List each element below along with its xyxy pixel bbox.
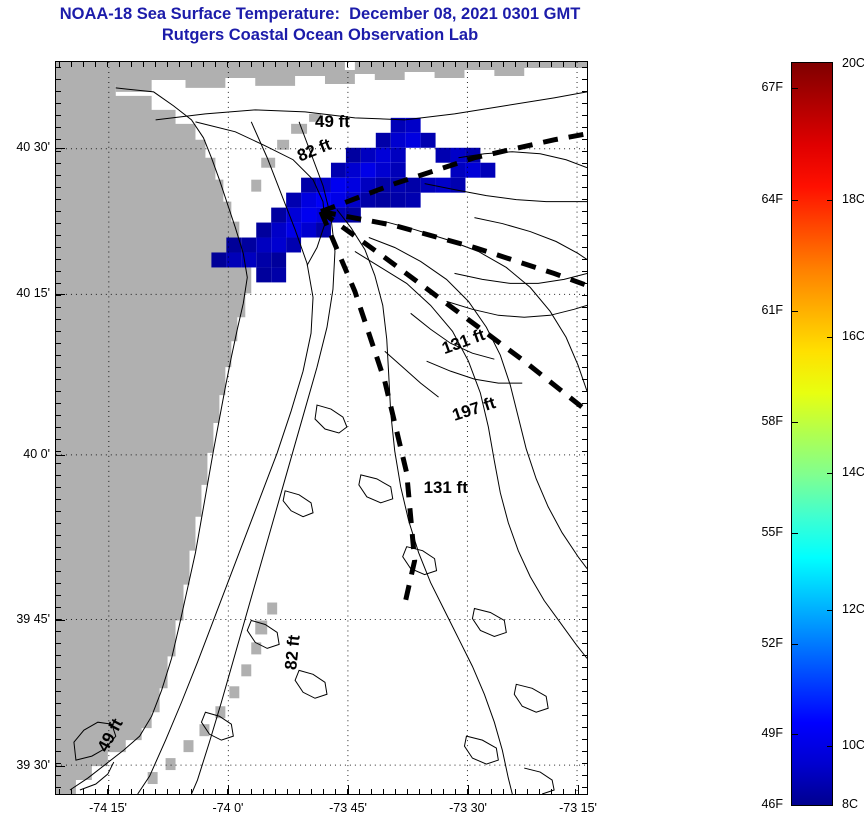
- axis-tick-minor: [55, 679, 61, 680]
- axis-tick-minor: [299, 61, 300, 67]
- axis-tick-minor: [55, 283, 61, 284]
- axis-tick-minor: [582, 559, 588, 560]
- axis-tick-minor: [119, 789, 120, 795]
- axis-tick-minor: [55, 763, 61, 764]
- axis-tick-minor: [582, 451, 588, 452]
- colorbar-label-celsius: 20C: [842, 56, 864, 70]
- axis-tick-minor: [55, 535, 61, 536]
- colorbar-label-celsius: 8C: [842, 797, 858, 811]
- axis-tick-minor: [275, 61, 276, 67]
- axis-tick-minor: [55, 79, 61, 80]
- axis-tick-minor: [582, 739, 588, 740]
- axis-tick-minor: [582, 247, 588, 248]
- axis-tick-minor: [515, 61, 516, 67]
- axis-tick-minor: [55, 547, 61, 548]
- title-line-1: NOAA-18 Sea Surface Temperature: Decembe…: [0, 4, 640, 25]
- axis-tick-minor: [582, 271, 588, 272]
- axis-tick-minor: [55, 235, 61, 236]
- axis-tick-minor: [55, 367, 61, 368]
- sst-map-plot[interactable]: 49 ft 82 ft 131 ft 197 ft 131 ft 82 ft 4…: [55, 61, 588, 795]
- axis-tick-minor: [563, 61, 564, 67]
- axis-tick-minor: [239, 789, 240, 795]
- axis-tick-minor: [419, 789, 420, 795]
- axis-tick-minor: [443, 61, 444, 67]
- axis-tick-minor: [55, 295, 61, 296]
- axis-tick-minor: [55, 259, 61, 260]
- axis-tick-major-x: [578, 785, 579, 795]
- axis-tick-minor: [582, 259, 588, 260]
- axis-tick-minor: [179, 789, 180, 795]
- axis-tick-minor: [582, 391, 588, 392]
- axis-tick-minor: [263, 789, 264, 795]
- axis-tick-minor: [55, 739, 61, 740]
- colorbar-tick-right: [827, 746, 833, 747]
- axis-tick-minor: [55, 751, 61, 752]
- axis-tick-minor: [55, 175, 61, 176]
- axis-tick-minor: [582, 355, 588, 356]
- axis-tick-minor: [455, 61, 456, 67]
- axis-tick-minor: [83, 61, 84, 67]
- axis-tick-minor: [575, 61, 576, 67]
- colorbar-label-fahrenheit: 64F: [735, 192, 783, 206]
- axis-tick-minor: [179, 61, 180, 67]
- axis-tick-minor: [582, 463, 588, 464]
- axis-tick-minor: [167, 61, 168, 67]
- axis-tick-minor: [55, 127, 61, 128]
- axis-tick-minor: [582, 67, 588, 68]
- y-axis-label: 40 30': [0, 140, 50, 154]
- axis-tick-minor: [95, 789, 96, 795]
- colorbar-tick-left: [791, 533, 798, 534]
- axis-tick-major-x: [228, 785, 229, 795]
- colorbar-tick-right: [827, 200, 833, 201]
- axis-tick-minor: [55, 499, 61, 500]
- x-axis-label: -74 0': [196, 801, 260, 815]
- axis-tick-minor: [55, 607, 61, 608]
- axis-tick-minor: [311, 61, 312, 67]
- map-canvas: 49 ft 82 ft 131 ft 197 ft 131 ft 82 ft 4…: [56, 62, 587, 794]
- axis-tick-minor: [239, 61, 240, 67]
- axis-tick-minor: [55, 463, 61, 464]
- axis-tick-minor: [582, 367, 588, 368]
- axis-tick-minor: [287, 61, 288, 67]
- axis-tick-minor: [582, 427, 588, 428]
- x-axis-label: -73 30': [436, 801, 500, 815]
- axis-tick-minor: [582, 139, 588, 140]
- axis-tick-minor: [479, 789, 480, 795]
- colorbar-tick-left: [791, 200, 798, 201]
- axis-tick-minor: [582, 595, 588, 596]
- axis-tick-minor: [582, 727, 588, 728]
- axis-tick-minor: [55, 163, 61, 164]
- axis-tick-minor: [582, 583, 588, 584]
- axis-tick-minor: [55, 715, 61, 716]
- axis-tick-minor: [582, 307, 588, 308]
- axis-tick-minor: [407, 61, 408, 67]
- axis-tick-minor: [491, 789, 492, 795]
- colorbar-label-celsius: 10C: [842, 738, 864, 752]
- axis-tick-minor: [455, 789, 456, 795]
- axis-tick-minor: [582, 667, 588, 668]
- colorbar-tick-left: [791, 422, 798, 423]
- axis-tick-minor: [203, 61, 204, 67]
- axis-tick-minor: [431, 61, 432, 67]
- axis-tick-minor: [71, 61, 72, 67]
- axis-tick-minor: [55, 115, 61, 116]
- axis-tick-minor: [539, 61, 540, 67]
- axis-tick-minor: [203, 789, 204, 795]
- axis-tick-minor: [582, 319, 588, 320]
- axis-tick-minor: [287, 789, 288, 795]
- axis-tick-minor: [55, 559, 61, 560]
- axis-tick-minor: [582, 151, 588, 152]
- axis-tick-minor: [55, 199, 61, 200]
- axis-tick-minor: [55, 511, 61, 512]
- axis-tick-minor: [55, 643, 61, 644]
- axis-tick-minor: [55, 271, 61, 272]
- axis-tick-minor: [582, 487, 588, 488]
- axis-tick-minor: [582, 787, 588, 788]
- axis-tick-minor: [131, 789, 132, 795]
- axis-tick-minor: [479, 61, 480, 67]
- axis-tick-minor: [395, 61, 396, 67]
- axis-tick-major-y: [55, 294, 65, 295]
- colorbar-label-celsius: 12C: [842, 602, 864, 616]
- axis-tick-minor: [167, 789, 168, 795]
- axis-tick-minor: [191, 789, 192, 795]
- axis-tick-minor: [55, 415, 61, 416]
- axis-tick-minor: [582, 415, 588, 416]
- axis-tick-minor: [582, 511, 588, 512]
- axis-tick-minor: [359, 61, 360, 67]
- axis-tick-minor: [191, 61, 192, 67]
- axis-tick-minor: [371, 61, 372, 67]
- axis-tick-minor: [55, 583, 61, 584]
- axis-tick-minor: [582, 535, 588, 536]
- x-axis-label: -73 15': [546, 801, 610, 815]
- axis-tick-minor: [251, 61, 252, 67]
- x-axis-label: -74 15': [76, 801, 140, 815]
- axis-tick-minor: [359, 789, 360, 795]
- axis-tick-minor: [582, 379, 588, 380]
- axis-tick-minor: [419, 61, 420, 67]
- axis-tick-minor: [395, 789, 396, 795]
- axis-tick-minor: [55, 571, 61, 572]
- axis-tick-minor: [582, 691, 588, 692]
- axis-tick-minor: [443, 789, 444, 795]
- axis-tick-minor: [59, 789, 60, 795]
- axis-tick-minor: [582, 547, 588, 548]
- colorbar-label-fahrenheit: 46F: [735, 797, 783, 811]
- axis-tick-minor: [55, 595, 61, 596]
- axis-tick-minor: [55, 775, 61, 776]
- depth-label-131ft-lower: 131 ft: [424, 478, 469, 497]
- axis-tick-minor: [55, 427, 61, 428]
- axis-tick-minor: [582, 715, 588, 716]
- axis-tick-minor: [55, 439, 61, 440]
- axis-tick-minor: [55, 667, 61, 668]
- axis-tick-minor: [55, 187, 61, 188]
- axis-tick-minor: [575, 789, 576, 795]
- axis-tick-minor: [83, 789, 84, 795]
- axis-tick-minor: [55, 787, 61, 788]
- colorbar-tick-right: [827, 610, 833, 611]
- axis-tick-minor: [582, 475, 588, 476]
- axis-tick-minor: [55, 391, 61, 392]
- axis-tick-minor: [263, 61, 264, 67]
- axis-tick-minor: [119, 61, 120, 67]
- axis-tick-minor: [155, 789, 156, 795]
- axis-tick-minor: [55, 727, 61, 728]
- axis-tick-minor: [335, 789, 336, 795]
- axis-tick-minor: [55, 487, 61, 488]
- axis-tick-minor: [582, 331, 588, 332]
- axis-tick-minor: [582, 403, 588, 404]
- colorbar-tick-left: [791, 311, 798, 312]
- colorbar-label-fahrenheit: 61F: [735, 303, 783, 317]
- title-line-2: Rutgers Coastal Ocean Observation Lab: [0, 25, 640, 46]
- axis-tick-minor: [55, 319, 61, 320]
- chart-title: NOAA-18 Sea Surface Temperature: Decembe…: [0, 4, 640, 46]
- colorbar-label-fahrenheit: 67F: [735, 80, 783, 94]
- axis-tick-minor: [582, 439, 588, 440]
- axis-tick-minor: [215, 789, 216, 795]
- axis-tick-minor: [383, 61, 384, 67]
- colorbar-tick-left: [791, 644, 798, 645]
- axis-tick-minor: [311, 789, 312, 795]
- axis-tick-minor: [582, 103, 588, 104]
- axis-tick-minor: [582, 655, 588, 656]
- axis-tick-minor: [55, 475, 61, 476]
- axis-tick-minor: [55, 343, 61, 344]
- axis-tick-minor: [503, 789, 504, 795]
- axis-tick-minor: [143, 789, 144, 795]
- axis-tick-minor: [582, 187, 588, 188]
- axis-tick-minor: [563, 789, 564, 795]
- axis-tick-minor: [582, 631, 588, 632]
- axis-tick-minor: [491, 61, 492, 67]
- axis-tick-minor: [582, 295, 588, 296]
- axis-tick-minor: [582, 127, 588, 128]
- axis-tick-minor: [55, 655, 61, 656]
- axis-tick-minor: [71, 789, 72, 795]
- axis-tick-minor: [55, 691, 61, 692]
- axis-tick-minor: [251, 789, 252, 795]
- axis-tick-minor: [551, 789, 552, 795]
- colorbar-label-celsius: 18C: [842, 192, 864, 206]
- axis-tick-minor: [107, 61, 108, 67]
- axis-tick-minor: [587, 789, 588, 795]
- y-axis-label: 40 15': [0, 286, 50, 300]
- colorbar-label-fahrenheit: 52F: [735, 636, 783, 650]
- colorbar-tick-right: [827, 337, 833, 338]
- colorbar-label-fahrenheit: 49F: [735, 726, 783, 740]
- axis-tick-major-y: [55, 148, 65, 149]
- axis-tick-major-y: [55, 620, 65, 621]
- axis-tick-minor: [55, 211, 61, 212]
- axis-tick-minor: [155, 61, 156, 67]
- axis-tick-minor: [143, 61, 144, 67]
- axis-tick-minor: [515, 789, 516, 795]
- axis-tick-minor: [55, 307, 61, 308]
- axis-tick-minor: [582, 79, 588, 80]
- axis-tick-minor: [527, 61, 528, 67]
- axis-tick-minor: [582, 619, 588, 620]
- axis-tick-minor: [582, 235, 588, 236]
- axis-tick-minor: [55, 139, 61, 140]
- colorbar[interactable]: [791, 62, 833, 806]
- axis-tick-minor: [55, 103, 61, 104]
- axis-tick-minor: [371, 789, 372, 795]
- axis-tick-minor: [582, 163, 588, 164]
- axis-tick-minor: [55, 151, 61, 152]
- axis-tick-minor: [582, 523, 588, 524]
- axis-tick-minor: [55, 223, 61, 224]
- axis-tick-minor: [55, 379, 61, 380]
- axis-tick-minor: [467, 61, 468, 67]
- axis-tick-minor: [347, 61, 348, 67]
- axis-tick-minor: [323, 61, 324, 67]
- axis-tick-minor: [55, 523, 61, 524]
- axis-tick-minor: [55, 247, 61, 248]
- depth-label-82ft-lower: 82 ft: [281, 634, 304, 671]
- axis-tick-minor: [582, 199, 588, 200]
- axis-tick-major-y: [55, 766, 65, 767]
- axis-tick-minor: [582, 283, 588, 284]
- y-axis-label: 39 30': [0, 758, 50, 772]
- axis-tick-minor: [299, 789, 300, 795]
- axis-tick-minor: [55, 703, 61, 704]
- colorbar-label-fahrenheit: 55F: [735, 525, 783, 539]
- axis-tick-minor: [55, 67, 61, 68]
- colorbar-label-fahrenheit: 58F: [735, 414, 783, 428]
- axis-tick-minor: [582, 607, 588, 608]
- axis-tick-major-y: [55, 455, 65, 456]
- axis-tick-minor: [551, 61, 552, 67]
- colorbar-tick-right: [827, 473, 833, 474]
- axis-tick-minor: [582, 343, 588, 344]
- y-axis-label: 40 0': [0, 447, 50, 461]
- colorbar-label-celsius: 14C: [842, 465, 864, 479]
- colorbar-tick-left: [791, 88, 798, 89]
- axis-tick-major-x: [468, 785, 469, 795]
- axis-tick-minor: [582, 175, 588, 176]
- axis-tick-minor: [582, 211, 588, 212]
- axis-tick-minor: [55, 403, 61, 404]
- axis-tick-minor: [582, 115, 588, 116]
- axis-tick-minor: [55, 355, 61, 356]
- y-axis-label: 39 45': [0, 612, 50, 626]
- axis-tick-minor: [431, 789, 432, 795]
- axis-tick-minor: [215, 61, 216, 67]
- axis-tick-minor: [95, 61, 96, 67]
- axis-tick-minor: [582, 223, 588, 224]
- colorbar-tick-left: [791, 734, 798, 735]
- axis-tick-minor: [582, 499, 588, 500]
- axis-tick-minor: [582, 91, 588, 92]
- axis-tick-minor: [55, 631, 61, 632]
- axis-tick-minor: [582, 763, 588, 764]
- axis-tick-minor: [582, 703, 588, 704]
- depth-label-49ft-upper: 49 ft: [315, 112, 350, 131]
- axis-tick-major-x: [348, 785, 349, 795]
- axis-tick-minor: [55, 331, 61, 332]
- colorbar-gradient: [791, 62, 833, 806]
- axis-tick-minor: [407, 789, 408, 795]
- axis-tick-minor: [503, 61, 504, 67]
- axis-tick-minor: [275, 789, 276, 795]
- axis-tick-minor: [131, 61, 132, 67]
- axis-tick-minor: [55, 451, 61, 452]
- axis-tick-major-x: [108, 785, 109, 795]
- axis-tick-minor: [323, 789, 324, 795]
- axis-tick-minor: [335, 61, 336, 67]
- axis-tick-minor: [539, 789, 540, 795]
- x-axis-label: -73 45': [316, 801, 380, 815]
- axis-tick-minor: [582, 571, 588, 572]
- axis-tick-minor: [582, 751, 588, 752]
- axis-tick-minor: [383, 789, 384, 795]
- axis-tick-minor: [582, 679, 588, 680]
- axis-tick-minor: [527, 789, 528, 795]
- axis-tick-minor: [582, 775, 588, 776]
- colorbar-label-celsius: 16C: [842, 329, 864, 343]
- axis-tick-minor: [55, 91, 61, 92]
- axis-tick-minor: [582, 643, 588, 644]
- axis-tick-minor: [227, 61, 228, 67]
